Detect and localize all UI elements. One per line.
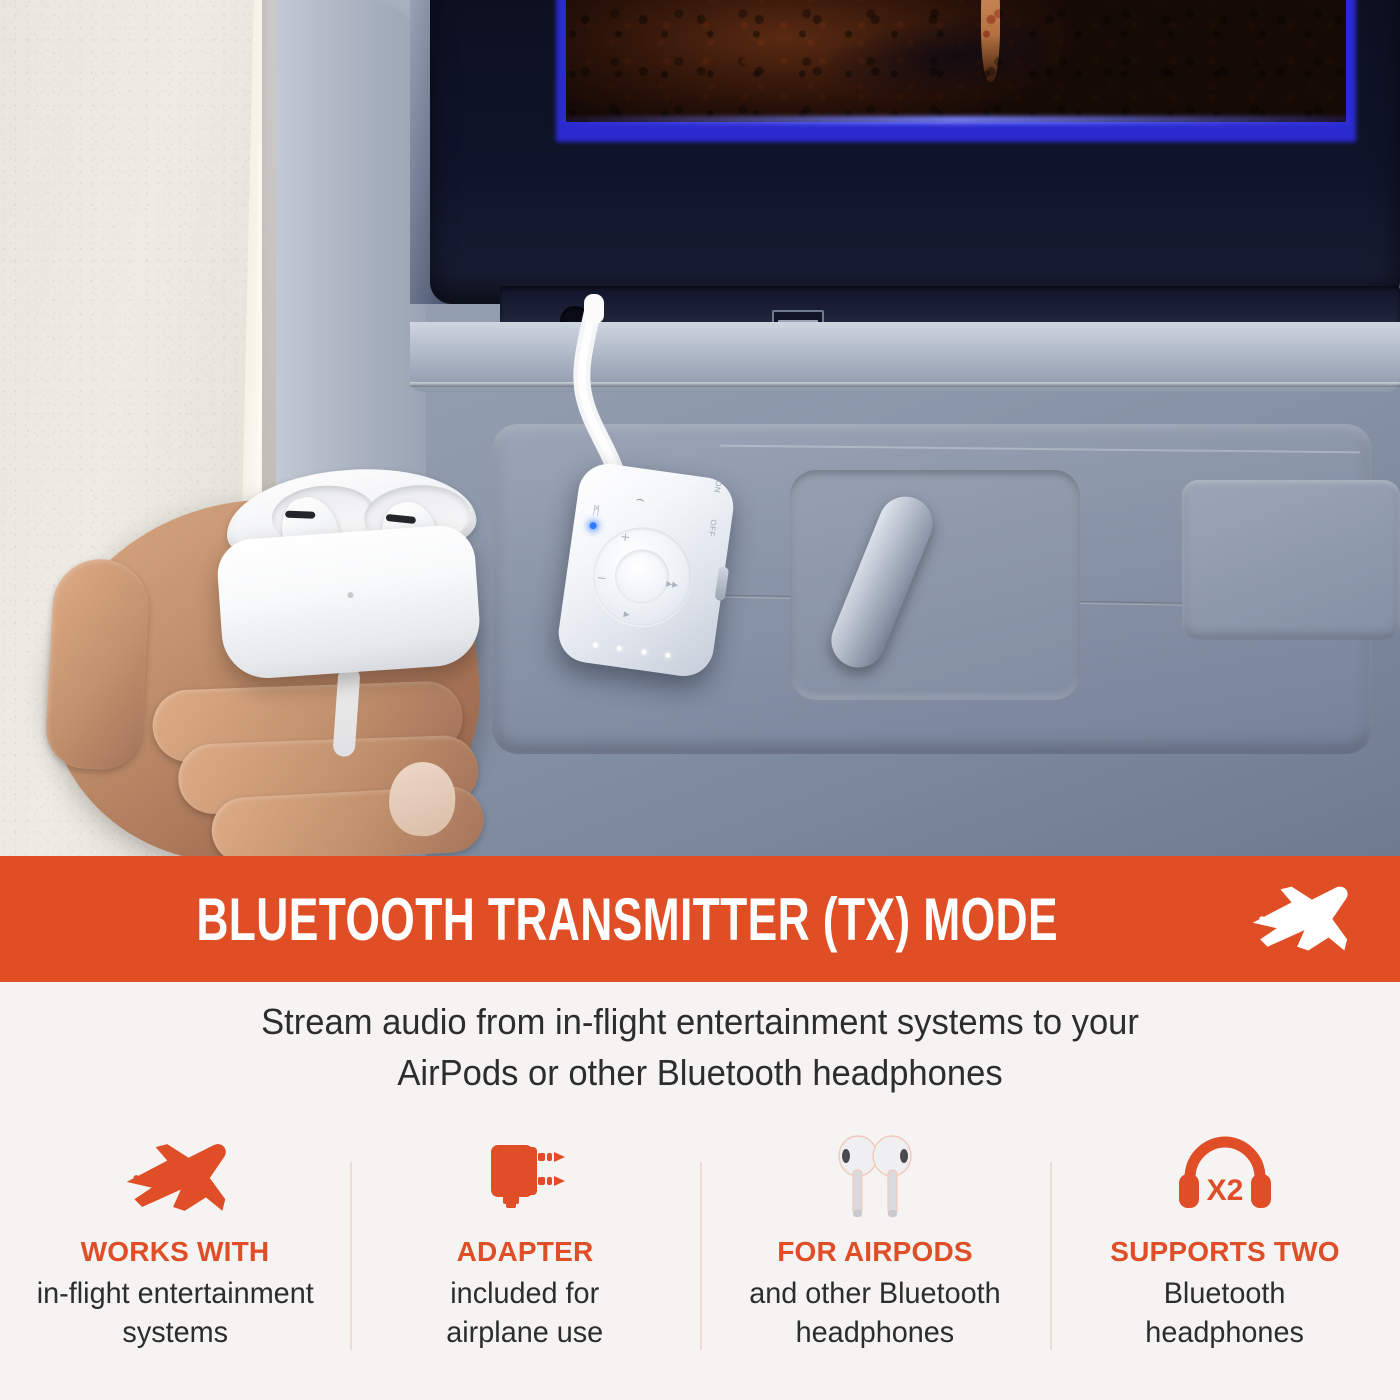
feature-list: WORKS WITH in-flight entertainment syste… xyxy=(0,1130,1400,1380)
feature-body-line-1: in-flight entertainment xyxy=(37,1274,314,1313)
screen-image-figure xyxy=(981,0,1000,82)
led-dot xyxy=(665,652,671,658)
feature-body-line-1: included for xyxy=(447,1274,604,1313)
feature-body: Bluetooth headphones xyxy=(1146,1274,1305,1352)
feature-adapter: ADAPTER included for airplane use xyxy=(350,1130,700,1380)
feature-works-with: WORKS WITH in-flight entertainment syste… xyxy=(0,1130,350,1380)
airpods-pro-case xyxy=(211,461,493,689)
feature-icon-wrap xyxy=(117,1130,233,1226)
feature-body: in-flight entertainment systems xyxy=(37,1274,314,1352)
feature-heading: ADAPTER xyxy=(457,1236,594,1268)
feature-body-line-1: and other Bluetooth xyxy=(749,1274,1000,1313)
feature-body-line-1: Bluetooth xyxy=(1146,1274,1305,1313)
feature-for-airpods: FOR AIRPODS and other Bluetooth headphon… xyxy=(700,1130,1050,1380)
product-infographic: ⌢ ᛗ ON OFF + − ▸▸ ▸ xyxy=(0,0,1400,1400)
airplane-adapter-icon xyxy=(475,1135,575,1221)
subtitle: Stream audio from in-flight entertainmen… xyxy=(28,996,1372,1098)
feature-heading: FOR AIRPODS xyxy=(777,1236,973,1268)
headphone-port-icon: ⌢ xyxy=(635,490,653,508)
volume-down-icon: − xyxy=(596,571,608,584)
led-dot xyxy=(617,645,623,651)
skip-icon: ▸▸ xyxy=(666,577,680,591)
feature-body: and other Bluetooth headphones xyxy=(749,1274,1000,1352)
headphones-x2-icon: X2 xyxy=(1173,1134,1277,1222)
subtitle-line-2: AirPods or other Bluetooth headphones xyxy=(28,1047,1372,1098)
status-led xyxy=(589,522,597,530)
seatback-side-compartment xyxy=(1182,480,1400,640)
feature-heading: WORKS WITH xyxy=(81,1236,270,1268)
feature-body-line-2: headphones xyxy=(749,1313,1000,1352)
subtitle-line-1: Stream audio from in-flight entertainmen… xyxy=(28,996,1372,1047)
device-center-button xyxy=(612,546,673,607)
feature-icon-wrap: X2 xyxy=(1173,1130,1277,1226)
feature-body-line-2: headphones xyxy=(1146,1313,1305,1352)
feature-body-line-2: airplane use xyxy=(447,1313,604,1352)
tray-table-latch-recess xyxy=(790,470,1080,700)
airplane-icon xyxy=(1243,882,1355,956)
feature-heading: SUPPORTS TWO xyxy=(1110,1236,1340,1268)
inflight-entertainment-screen xyxy=(566,0,1346,122)
led-dot xyxy=(641,649,647,655)
volume-up-icon: + xyxy=(620,530,632,543)
feature-icon-wrap xyxy=(827,1130,923,1226)
audio-cable xyxy=(556,300,598,475)
power-label-on: ON xyxy=(712,480,723,494)
x2-badge-text: X2 xyxy=(1207,1174,1244,1207)
feature-supports-two: X2 SUPPORTS TWO Bluetooth headphones xyxy=(1050,1130,1400,1380)
screen-image-shadow xyxy=(813,8,1050,110)
airplane-icon xyxy=(117,1137,233,1219)
bluetooth-transmitter-device: ⌢ ᛗ ON OFF + − ▸▸ ▸ xyxy=(555,460,737,680)
product-photo: ⌢ ᛗ ON OFF + − ▸▸ ▸ xyxy=(0,0,1400,856)
feature-body: included for airplane use xyxy=(447,1274,604,1352)
battery-led-indicators xyxy=(593,641,671,658)
power-label-off: OFF xyxy=(706,519,717,538)
feature-body-line-2: systems xyxy=(37,1313,314,1352)
led-dot xyxy=(593,642,599,648)
case-led-indicator xyxy=(347,592,353,598)
airpod-vent xyxy=(285,511,315,519)
airpod-vent xyxy=(386,514,417,524)
airpods-icon xyxy=(827,1132,923,1224)
thumb xyxy=(44,557,151,772)
section-banner: BLUETOOTH TRANSMITTER (TX) MODE xyxy=(0,856,1400,982)
screen-edge-glow xyxy=(560,116,1352,124)
banner-title: BLUETOOTH TRANSMITTER (TX) MODE xyxy=(196,885,1058,954)
case-body xyxy=(215,523,482,681)
feature-icon-wrap xyxy=(475,1130,575,1226)
bluetooth-icon: ᛗ xyxy=(589,504,604,519)
